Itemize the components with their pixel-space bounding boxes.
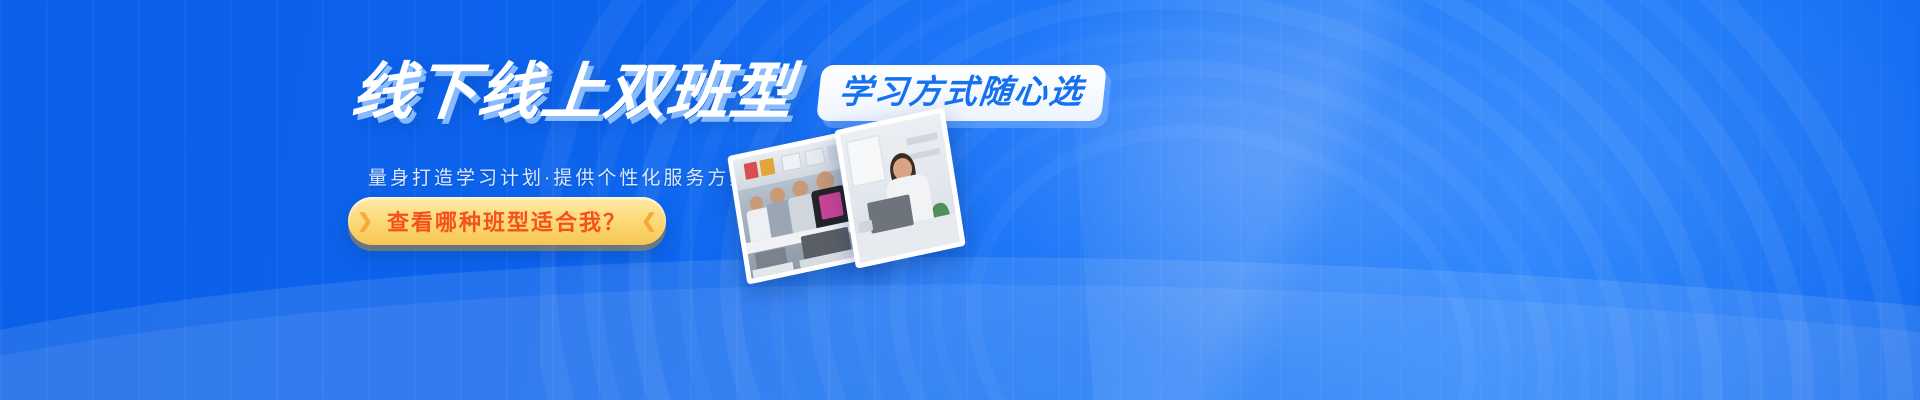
badge-label: 学习方式随心选 [837, 74, 1086, 110]
chevron-right-icon: ❯ [357, 212, 373, 231]
cta-label: 查看哪种班型适合我？ [387, 205, 627, 237]
chevron-left-icon: ❮ [641, 212, 657, 231]
promo-banner: 线下线上双班型 学习方式随心选 量身打造学习计划·提供个性化服务方案 ❯ 查看哪… [0, 0, 1920, 400]
view-class-type-button[interactable]: ❯ 查看哪种班型适合我？ ❮ [348, 197, 666, 245]
photo-collage [716, 112, 986, 282]
banner-subtitle: 量身打造学习计划·提供个性化服务方案 [368, 163, 751, 190]
banner-content: 线下线上双班型 学习方式随心选 量身打造学习计划·提供个性化服务方案 ❯ 查看哪… [0, 0, 1920, 400]
online-study-photo [834, 107, 966, 269]
home-study-scene [840, 113, 960, 263]
